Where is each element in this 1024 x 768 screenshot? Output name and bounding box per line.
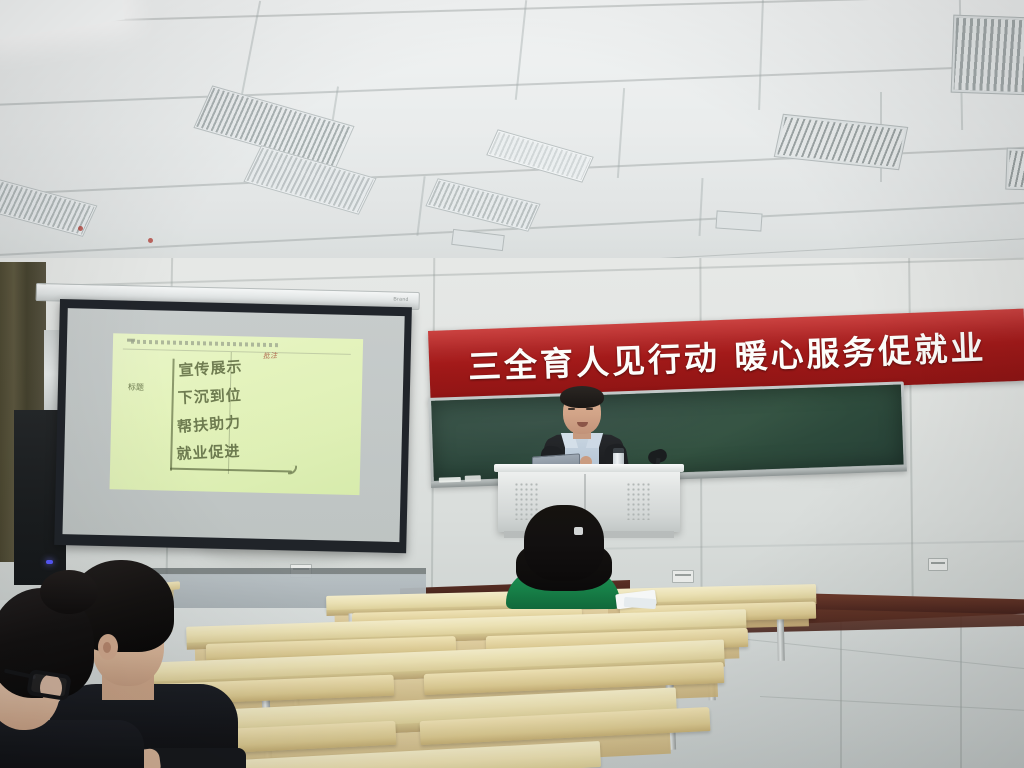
- lectern-top-surface: [494, 464, 684, 472]
- projected-document: 批注 标题 宣传展示 下沉到位 帮扶助力 就业促进: [110, 333, 364, 495]
- classroom-photo: Brand 批注 标题 宣传展示 下沉到位 帮扶助力 就业促进: [0, 0, 1024, 768]
- handwritten-line: 帮扶助力: [176, 411, 242, 437]
- ceiling-light-panel-lit: [0, 0, 125, 40]
- ceiling-diffuser: [451, 229, 505, 251]
- student-green-top: [504, 505, 622, 603]
- power-led-icon: [46, 560, 53, 564]
- handwritten-line: 宣传展示: [178, 356, 243, 381]
- projection-screen: 批注 标题 宣传展示 下沉到位 帮扶助力 就业促进: [54, 299, 412, 553]
- annotation-vertical-bar: [170, 359, 175, 471]
- hvac-vent: [951, 15, 1024, 96]
- student-a-hair-bun: [40, 570, 98, 614]
- annotation-underline: [170, 468, 292, 473]
- ceiling: [0, 0, 1024, 292]
- ceiling-light-fixture: [425, 178, 540, 231]
- chalk-eraser: [465, 475, 481, 482]
- hvac-vent: [774, 114, 909, 170]
- chalk-piece: [439, 477, 461, 483]
- screen-surface: 批注 标题 宣传展示 下沉到位 帮扶助力 就业促进: [62, 308, 404, 542]
- banner-text: 三全育人见行动 暖心服务促就业: [467, 321, 987, 388]
- handwritten-line: 下沉到位: [177, 384, 242, 408]
- margin-label: 标题: [128, 382, 144, 393]
- document-header-text: [131, 340, 281, 348]
- student-green-hair: [524, 505, 604, 581]
- water-bottle-cap: [613, 448, 624, 453]
- presenter-eye-right: [586, 408, 593, 410]
- document-rule-line: [123, 348, 351, 354]
- ceiling-diffuser: [715, 210, 762, 231]
- wall-outlet: [928, 558, 948, 571]
- presenter-eye-left: [568, 408, 575, 410]
- wall-outlet: [672, 570, 694, 583]
- lectern-perforated-panel-right: [626, 482, 652, 520]
- screen-brand-logo: Brand: [393, 296, 408, 302]
- student-with-glasses: [0, 588, 134, 768]
- hvac-vent: [1005, 148, 1024, 191]
- handwritten-line: 就业促进: [176, 440, 241, 464]
- presenter-hair: [560, 386, 604, 408]
- annotation-underline-hook: [288, 465, 297, 474]
- paper-sheets-under: [624, 597, 657, 609]
- hair-clip: [574, 527, 583, 535]
- ceiling-light-fixture: [486, 129, 594, 182]
- red-annotation: 批注: [262, 351, 277, 362]
